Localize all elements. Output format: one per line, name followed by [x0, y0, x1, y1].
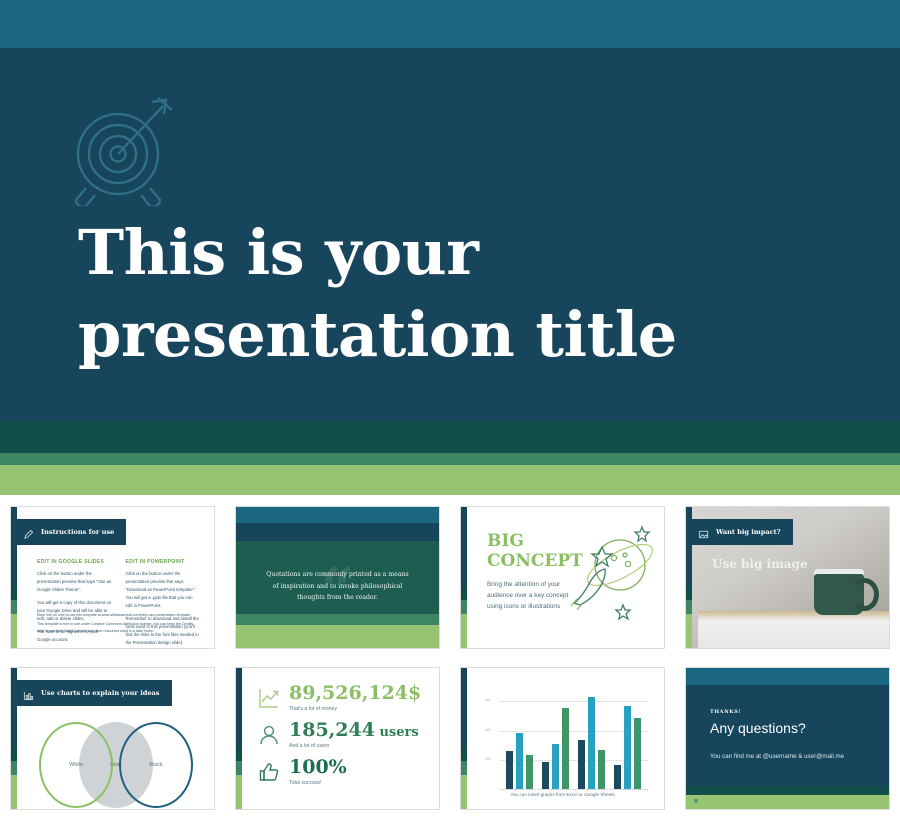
- thanks-top-bar: [686, 668, 889, 685]
- slide-header-bar: Instructions for use: [15, 519, 126, 545]
- image-slide-caption: Use big image: [712, 557, 808, 571]
- chart-bar: [634, 718, 641, 789]
- venn-label: Black: [149, 762, 162, 768]
- slide-header-bar: Use charts to explain your ideas: [15, 680, 172, 706]
- page-title: This is your presentation title: [78, 212, 798, 376]
- hero-top-bar: [0, 0, 900, 48]
- chart-bar: [506, 751, 513, 789]
- quote-navy-band: [236, 523, 439, 541]
- chart-y-tick-label: 400: [485, 728, 491, 732]
- slide-header-label: Want big impact?: [716, 528, 781, 536]
- chart-y-tick-label: 200: [485, 757, 491, 761]
- footnote: More info on how to use this template at…: [37, 612, 200, 619]
- thumbnail-cell-quote[interactable]: “ Quotations are commonly printed as a m…: [225, 497, 450, 658]
- user-icon: [258, 724, 280, 746]
- slide-header-label: Instructions for use: [41, 528, 114, 536]
- thumbnail-cell-stats[interactable]: 89,526,124$ That's a lot of money 185,24…: [225, 658, 450, 819]
- slide-thumbnail-instructions[interactable]: Instructions for use EDIT IN GOOGLE SLID…: [10, 506, 215, 649]
- slide-header-label: Use charts to explain your ideas: [41, 689, 160, 697]
- instructions-footnotes: More info on how to use this template at…: [37, 612, 200, 638]
- thumbnail-cell-bar-chart[interactable]: 600400200 You can insert graphs from Exc…: [450, 658, 675, 819]
- stat-value: 89,526,124$: [289, 684, 421, 703]
- thanks-band-light-green: [686, 795, 889, 809]
- quote-text: Quotations are commonly printed as a mea…: [264, 569, 410, 603]
- slide-thumbnail-bar-chart[interactable]: 600400200 You can insert graphs from Exc…: [460, 667, 665, 810]
- slide-thumbnail-venn[interactable]: Use charts to explain your ideas Gray Wh…: [10, 667, 215, 810]
- venn-diagram: Gray White Black: [11, 714, 214, 801]
- chart-axis: [499, 789, 648, 790]
- thumbnail-cell-image[interactable]: Use big image Want big impact?: [675, 497, 900, 658]
- chart-bar: [588, 697, 595, 789]
- stat-label: Total success!: [289, 780, 347, 786]
- column-heading: EDIT IN GOOGLE SLIDES: [37, 559, 112, 565]
- quote-top-bar: [236, 507, 439, 523]
- slide-thumbnail-thanks[interactable]: THANKS! Any questions? You can find me a…: [685, 667, 890, 810]
- thanks-title: Any questions?: [710, 720, 806, 736]
- pencil-icon: [23, 527, 34, 538]
- thumbnail-cell-venn[interactable]: Use charts to explain your ideas Gray Wh…: [0, 658, 225, 819]
- left-color-strip: [236, 668, 242, 809]
- venn-circle-white: White: [39, 722, 113, 808]
- slide-thumbnail-grid: Instructions for use EDIT IN GOOGLE SLID…: [0, 497, 900, 819]
- chart-bar-groups: [501, 686, 646, 789]
- title-slide: This is your presentation title: [0, 0, 900, 495]
- thumbs-up-icon: [258, 761, 280, 783]
- stat-row: 185,244 users And a lot of users: [258, 721, 429, 749]
- slide-thumbnail-stats[interactable]: 89,526,124$ That's a lot of money 185,24…: [235, 667, 440, 810]
- venn-circle-black: Black: [119, 722, 193, 808]
- quote-band-light-green: [236, 625, 439, 648]
- coffee-mug: [814, 569, 864, 615]
- instructions-paragraph: Click on the button under the presentati…: [37, 570, 112, 594]
- stat-unit: users: [375, 725, 419, 740]
- left-color-strip: [461, 668, 467, 809]
- thanks-subtitle: You can find me at @username & user@mail…: [710, 752, 873, 762]
- left-color-strip: [461, 507, 467, 648]
- chart-bar: [552, 744, 559, 789]
- chart-bar: [516, 733, 523, 789]
- target-arrow-icon: [66, 96, 178, 206]
- stat-label: That's a lot of money: [289, 706, 421, 712]
- chart-caption: You can insert graphs from Excel or Goog…: [461, 792, 664, 797]
- slide-thumbnail-image[interactable]: Use big image Want big impact?: [685, 506, 890, 649]
- line-chart-icon: [258, 687, 280, 709]
- footnote: This template is free to use under Creat…: [37, 621, 200, 635]
- thumbnail-cell-instructions[interactable]: Instructions for use EDIT IN GOOGLE SLID…: [0, 497, 225, 658]
- chart-bar: [526, 755, 533, 789]
- thumbnail-cell-big-concept[interactable]: BIG CONCEPT Bring the attention of your …: [450, 497, 675, 658]
- slide-thumbnail-big-concept[interactable]: BIG CONCEPT Bring the attention of your …: [460, 506, 665, 649]
- quote-band-mid-green: [236, 614, 439, 625]
- thanks-kicker: THANKS!: [710, 709, 741, 715]
- bar-chart: 600400200: [485, 686, 648, 790]
- hero-band-mid-green: [0, 453, 900, 465]
- instructions-paragraph: Click on the button under the presentati…: [126, 570, 201, 610]
- thanks-band-dark-green: [686, 786, 889, 794]
- chart-bar-group: [614, 706, 641, 789]
- chart-bar: [598, 750, 605, 789]
- chart-bar: [542, 762, 549, 789]
- thumbnail-cell-thanks[interactable]: THANKS! Any questions? You can find me a…: [675, 658, 900, 819]
- chart-bar-group: [506, 733, 533, 789]
- hero-band-dark-green: [0, 421, 900, 453]
- stat-row: 89,526,124$ That's a lot of money: [258, 684, 429, 712]
- chart-bar-group: [542, 708, 569, 789]
- stats-list: 89,526,124$ That's a lot of money 185,24…: [258, 684, 429, 795]
- stat-label: And a lot of users: [289, 743, 419, 749]
- hero-band-light-green: [0, 465, 900, 495]
- thanks-dot-marker: [694, 799, 698, 803]
- chart-bar-group: [578, 697, 605, 789]
- venn-label: White: [69, 762, 83, 768]
- stat-value: 185,244 users: [289, 721, 419, 740]
- desk-surface: [698, 611, 889, 648]
- stat-row: 100% Total success!: [258, 758, 429, 786]
- bar-chart-icon: [23, 688, 34, 699]
- slide-thumbnail-quote[interactable]: “ Quotations are commonly printed as a m…: [235, 506, 440, 649]
- chart-bar: [578, 740, 585, 789]
- chart-y-tick-label: 600: [485, 698, 491, 702]
- stat-value: 100%: [289, 758, 347, 777]
- column-heading: EDIT IN POWERPOINT: [126, 559, 201, 565]
- chart-bar: [614, 765, 621, 790]
- chart-bar: [562, 708, 569, 789]
- slide-header-bar: Want big impact?: [690, 519, 793, 545]
- chart-bar: [624, 706, 631, 789]
- planet-rocket-stars-icon: [550, 517, 658, 621]
- image-icon: [698, 527, 709, 538]
